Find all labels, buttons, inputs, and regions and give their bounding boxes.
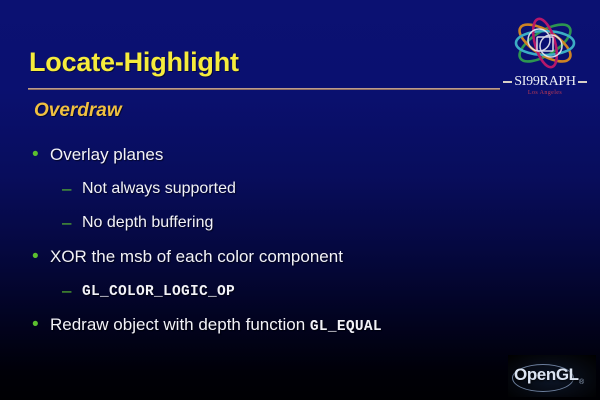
list-item-code-label: GL_EQUAL: [310, 319, 382, 335]
list-item: – No depth buffering: [26, 206, 546, 240]
bullet-list: • Overlay planes – Not always supported …: [26, 138, 546, 342]
page-title: Locate-Highlight: [29, 47, 239, 78]
wordmark-dash-left: [503, 81, 512, 83]
opengl-wordmark: OpenGL: [514, 365, 579, 385]
list-item-label: Not always supported: [82, 180, 236, 197]
list-item-label: Overlay planes: [50, 145, 163, 164]
bullet-dot-icon: •: [32, 138, 39, 172]
siggraph-wordmark: SI99RAPH: [497, 74, 593, 90]
title-divider: [28, 88, 500, 90]
slide-subtitle: Overdraw: [34, 100, 122, 122]
list-item: • Redraw object with depth function GL_E…: [26, 308, 546, 342]
wordmark-dash-right: [578, 81, 587, 83]
list-item-code-label: GL_COLOR_LOGIC_OP: [82, 284, 235, 300]
siggraph-rings-icon: [497, 10, 593, 76]
bullet-dot-icon: •: [32, 240, 39, 274]
slide-canvas: Locate-Highlight Overdraw • Overlay plan…: [0, 0, 600, 400]
list-item-label: Redraw object with depth function: [50, 315, 305, 334]
list-item: • XOR the msb of each color component: [26, 240, 546, 274]
siggraph-logo: SI99RAPH Los Angeles: [497, 10, 593, 104]
opengl-trademark: ®: [579, 379, 584, 386]
siggraph-city-label: Los Angeles: [497, 90, 593, 96]
opengl-logo: OpenGL ®: [508, 355, 596, 397]
bullet-dash-icon: –: [62, 206, 71, 240]
bullet-dash-icon: –: [62, 172, 71, 206]
list-item-label: No depth buffering: [82, 214, 213, 231]
list-item-label: XOR the msb of each color component: [50, 247, 343, 266]
siggraph-wordmark-text: SI99RAPH: [514, 74, 575, 89]
list-item: – Not always supported: [26, 172, 546, 206]
bullet-dot-icon: •: [32, 308, 39, 342]
list-item: • Overlay planes: [26, 138, 546, 172]
bullet-dash-icon: –: [62, 274, 71, 308]
list-item: – GL_COLOR_LOGIC_OP: [26, 274, 546, 308]
